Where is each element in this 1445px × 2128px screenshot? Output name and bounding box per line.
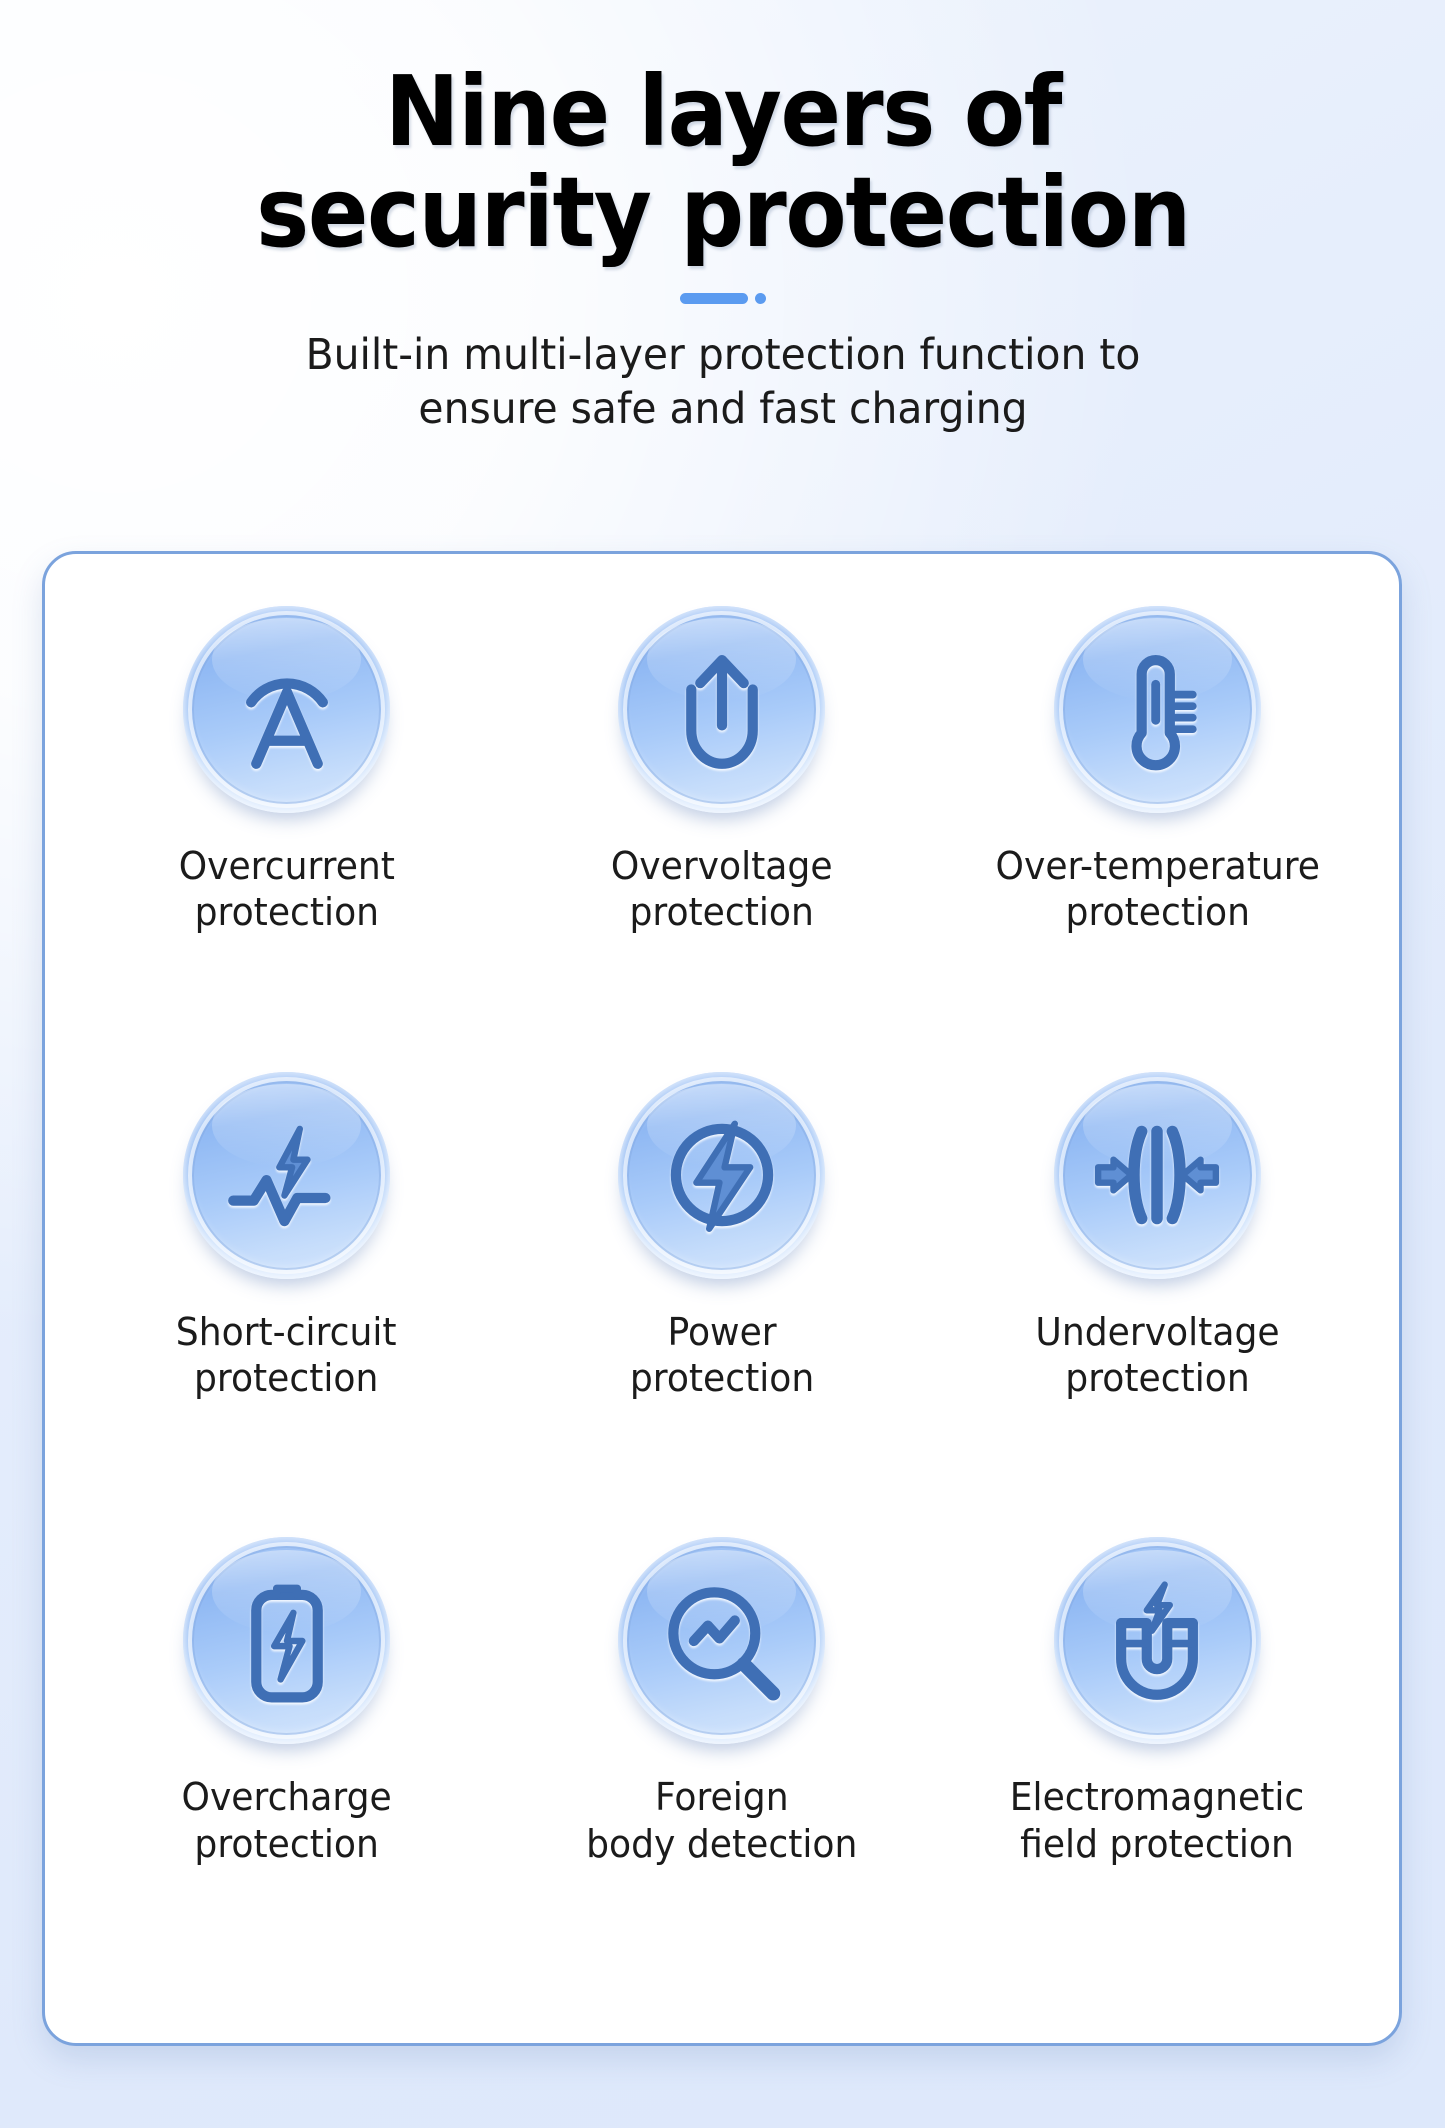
feature-item: Short-circuit protection [69, 1072, 504, 1538]
header: Nine layers of security protection Built… [0, 0, 1445, 437]
feature-icon-badge [183, 1072, 390, 1279]
power-bolt-circle-icon [658, 1111, 786, 1239]
feature-icon-badge [183, 1537, 390, 1744]
magnifier-wave-icon [658, 1577, 786, 1705]
feature-label: Overvoltage protection [611, 843, 833, 936]
inward-arrows-icon [1093, 1111, 1221, 1239]
feature-icon-badge [618, 1072, 825, 1279]
feature-label: Over-temperature protection [995, 843, 1319, 936]
feature-icon-badge [1054, 1072, 1261, 1279]
feature-icon-badge [618, 606, 825, 813]
feature-icon-badge [1054, 606, 1261, 813]
feature-item: Foreign body detection [504, 1537, 939, 2003]
magnet-bolt-icon [1093, 1577, 1221, 1705]
divider-dot [755, 293, 766, 304]
feature-icon-badge [618, 1537, 825, 1744]
feature-label: Power protection [630, 1309, 814, 1402]
feature-label: Foreign body detection [586, 1774, 857, 1867]
features-grid: Overcurrent protection Overvoltage prote… [45, 554, 1399, 2043]
feature-label: Overcharge protection [182, 1774, 392, 1867]
feature-label: Overcurrent protection [179, 843, 395, 936]
page-subtitle: Built-in multi-layer protection function… [233, 328, 1212, 437]
security-protection-infographic: Nine layers of security protection Built… [0, 0, 1445, 2128]
feature-item: Undervoltage protection [940, 1072, 1375, 1538]
waveform-bolt-icon [223, 1111, 351, 1239]
divider-bar [680, 293, 748, 304]
feature-label: Short-circuit protection [176, 1309, 397, 1402]
feature-item: Over-temperature protection [940, 606, 1375, 1072]
feature-item: Power protection [504, 1072, 939, 1538]
voltage-up-arrow-icon [658, 646, 786, 774]
thermometer-icon [1093, 646, 1221, 774]
page-title: Nine layers of security protection [180, 62, 1266, 264]
section-divider [0, 292, 1445, 306]
feature-label: Electromagnetic field protection [1010, 1774, 1305, 1867]
feature-label: Undervoltage protection [1035, 1309, 1279, 1402]
feature-icon-badge [183, 606, 390, 813]
battery-bolt-icon [223, 1577, 351, 1705]
feature-item: Overcurrent protection [69, 606, 504, 1072]
feature-item: Overcharge protection [69, 1537, 504, 2003]
ampere-arc-icon [223, 646, 351, 774]
feature-item: Overvoltage protection [504, 606, 939, 1072]
features-card: Overcurrent protection Overvoltage prote… [42, 551, 1402, 2046]
feature-icon-badge [1054, 1537, 1261, 1744]
feature-item: Electromagnetic field protection [940, 1537, 1375, 2003]
